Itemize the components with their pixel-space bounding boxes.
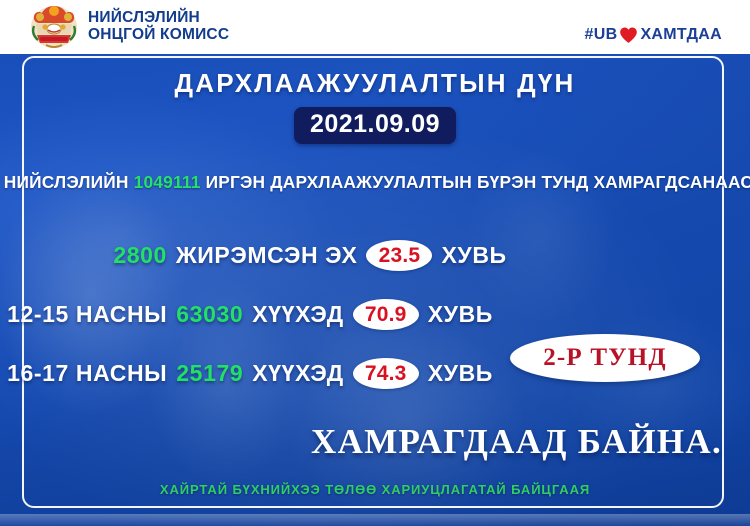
stat-label: ХҮҮХЭД xyxy=(252,301,343,328)
heart-icon xyxy=(619,26,638,44)
lead-statement: НИЙСЛЭЛИЙН 1049111 ИРГЭН ДАРХЛААЖУУЛАЛТЫ… xyxy=(4,172,747,193)
dose-badge-label: 2-Р ТУНД xyxy=(543,344,667,372)
summary-headline: ХАМРАГДААД БАЙНА. xyxy=(311,422,722,462)
report-date-badge: 2021.09.09 xyxy=(294,107,456,144)
poster-content: ДАРХЛААЖУУЛАЛТЫН ДҮН 2021.09.09 НИЙСЛЭЛИ… xyxy=(0,44,750,526)
stat-percent-unit: ХУВЬ xyxy=(428,301,493,328)
lead-after-text: ИРГЭН ДАРХЛААЖУУЛАЛТЫН БҮРЭН ТУНД ХАМРАГ… xyxy=(206,172,750,192)
footer-slogan: ХАЙРТАЙ БҮХНИЙХЭЭ ТӨЛӨӨ ХАРИУЦЛАГАТАЙ БА… xyxy=(0,482,750,497)
stat-percent-badge: 74.3 xyxy=(353,358,419,389)
stat-percent-unit: ХУВЬ xyxy=(441,242,506,269)
stat-count: 2800 xyxy=(113,242,167,269)
hashtag-suffix: ХАМТДАА xyxy=(640,26,722,44)
stat-row: 12-15 НАСНЫ 63030 ХҮҮХЭД 70.9 ХУВЬ xyxy=(0,299,625,330)
stat-label: ЖИРЭМСЭН ЭХ xyxy=(176,242,358,269)
dose-badge: 2-Р ТУНД xyxy=(510,334,700,382)
date-badge-wrapper: 2021.09.09 xyxy=(0,107,750,144)
org-name-line2: ОНЦГОЙ КОМИСС xyxy=(88,26,229,43)
org-name-line1: НИЙСЛЭЛИЙН xyxy=(88,9,229,26)
organization-logo-block: НИЙСЛЭЛИЙН ОНЦГОЙ КОМИСС xyxy=(28,2,229,50)
page-title: ДАРХЛААЖУУЛАЛТЫН ДҮН xyxy=(0,68,750,99)
organization-name: НИЙСЛЭЛИЙН ОНЦГОЙ КОМИСС xyxy=(88,9,229,43)
stat-age-prefix: 16-17 НАСНЫ xyxy=(7,360,167,387)
footer-strip xyxy=(0,514,750,526)
poster-header: НИЙСЛЭЛИЙН ОНЦГОЙ КОМИСС #UB ХАМТДАА xyxy=(0,0,750,54)
stat-percent-unit: ХУВЬ xyxy=(428,360,493,387)
lead-total-count: 1049111 xyxy=(134,172,201,192)
stat-label: ХҮҮХЭД xyxy=(252,360,343,387)
vaccination-status-poster: НИЙСЛЭЛИЙН ОНЦГОЙ КОМИСС #UB ХАМТДАА ДАР… xyxy=(0,0,750,526)
poster-body-panel: ДАРХЛААЖУУЛАЛТЫН ДҮН 2021.09.09 НИЙСЛЭЛИ… xyxy=(0,44,750,526)
stat-percent-badge: 23.5 xyxy=(366,240,432,271)
stat-percent-badge: 70.9 xyxy=(353,299,419,330)
campaign-hashtag: #UB ХАМТДАА xyxy=(585,26,722,44)
hashtag-prefix: #UB xyxy=(585,26,618,44)
ulaanbaatar-city-emblem-icon xyxy=(28,2,80,50)
stat-count: 63030 xyxy=(176,301,243,328)
stat-row: 2800 ЖИРЭМСЭН ЭХ 23.5 ХУВЬ xyxy=(0,240,685,271)
stat-age-prefix: 12-15 НАСНЫ xyxy=(7,301,167,328)
stat-count: 25179 xyxy=(176,360,243,387)
lead-before-text: НИЙСЛЭЛИЙН xyxy=(4,172,129,192)
